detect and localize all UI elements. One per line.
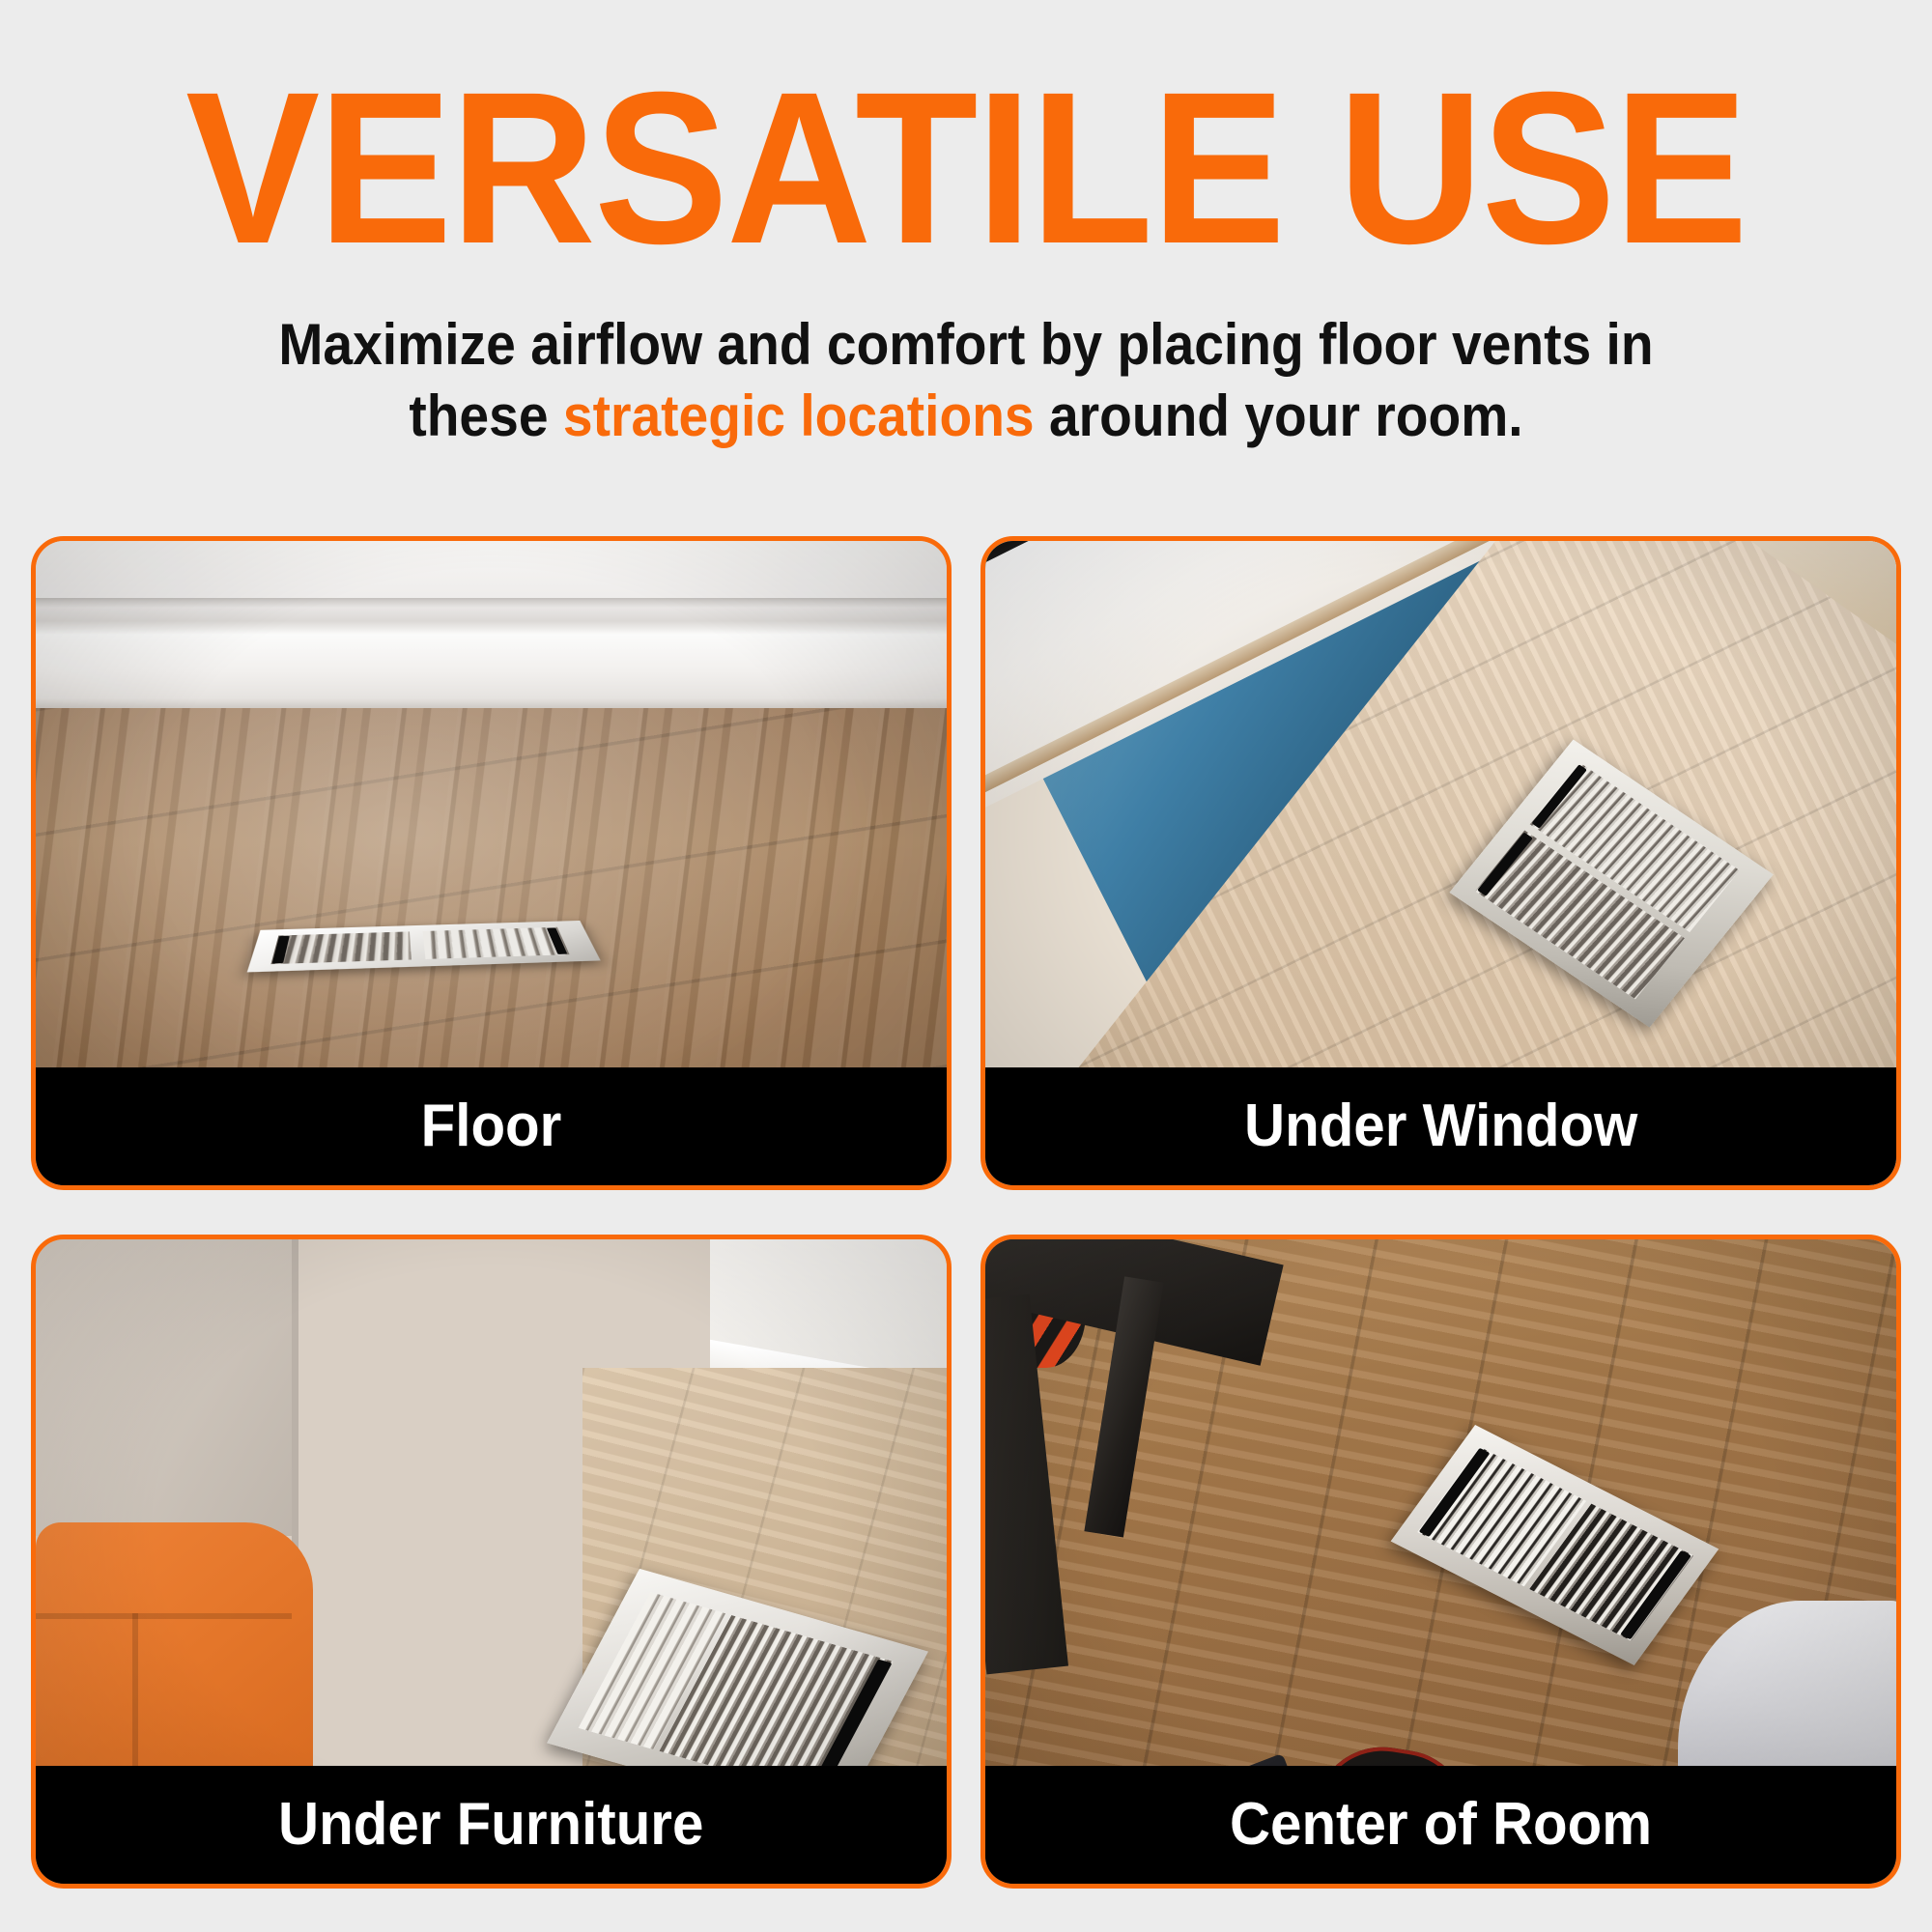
use-case-card-center-of-room[interactable]: Center of Room bbox=[980, 1235, 1901, 1889]
card-label-bar: Under Window bbox=[985, 1067, 1896, 1185]
header: VERSATILE USE Maximize airflow and comfo… bbox=[0, 0, 1932, 452]
card-label: Under Window bbox=[1244, 1096, 1637, 1156]
subtitle-suffix: around your room. bbox=[1035, 384, 1523, 448]
card-label-bar: Floor bbox=[36, 1067, 947, 1185]
use-case-grid: Floor bbox=[31, 536, 1901, 1889]
infographic-page: VERSATILE USE Maximize airflow and comfo… bbox=[0, 0, 1932, 1932]
card-label: Floor bbox=[421, 1096, 562, 1156]
card-label-bar: Center of Room bbox=[985, 1766, 1896, 1884]
vent-louver-section-left bbox=[270, 932, 412, 965]
subtitle-prefix: these bbox=[409, 384, 563, 448]
baseboard-wall bbox=[36, 541, 947, 708]
page-subtitle: Maximize airflow and comfort by placing … bbox=[77, 309, 1855, 452]
vent-louver-section-right bbox=[423, 927, 570, 959]
use-case-card-under-furniture[interactable]: Under Furniture bbox=[31, 1235, 952, 1889]
subtitle-highlight: strategic locations bbox=[563, 384, 1035, 448]
card-label: Under Furniture bbox=[278, 1795, 703, 1855]
use-case-card-under-window[interactable]: Under Window bbox=[980, 536, 1901, 1190]
subtitle-line-2: these strategic locations around your ro… bbox=[77, 381, 1855, 452]
card-label: Center of Room bbox=[1230, 1795, 1652, 1855]
subtitle-line-1: Maximize airflow and comfort by placing … bbox=[77, 309, 1855, 381]
page-title: VERSATILE USE bbox=[68, 0, 1864, 276]
use-case-card-floor[interactable]: Floor bbox=[31, 536, 952, 1190]
card-label-bar: Under Furniture bbox=[36, 1766, 947, 1884]
